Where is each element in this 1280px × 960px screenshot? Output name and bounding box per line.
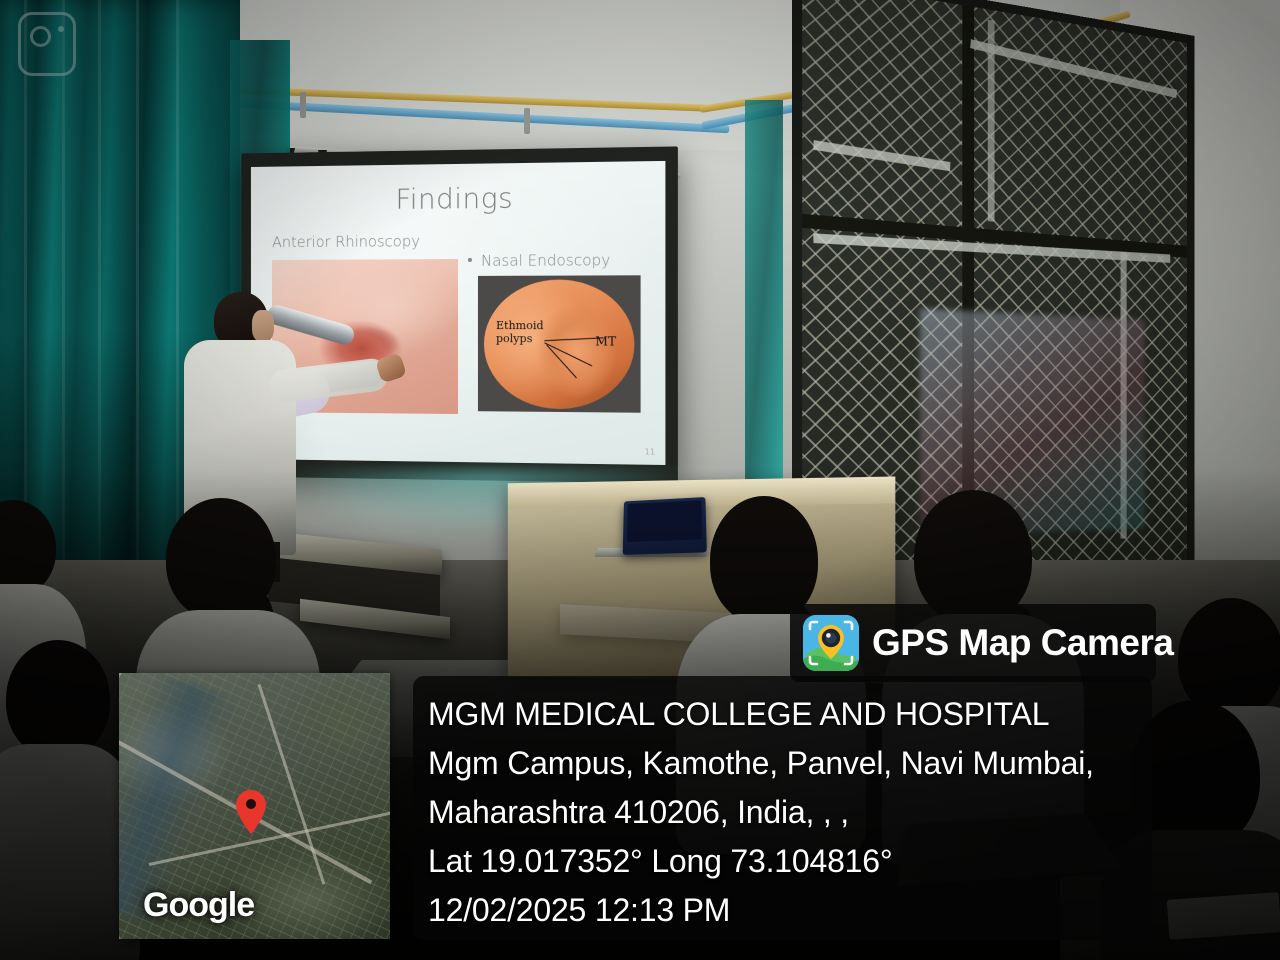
laptop-on-podium [623,497,707,555]
label-ethmoid: Ethmoid [496,319,544,332]
gps-map-camera-logo-icon [803,615,859,671]
pipe-clamp [524,108,530,134]
datetime-text: 12/02/2025 12:13 PM [428,886,1152,935]
slide-page-number: 11 [645,447,656,456]
endoscopy-annotation-polyps: Ethmoid polyps [496,320,544,346]
coordinates-text: Lat 19.017352° Long 73.104816° [428,837,1152,886]
projected-slide: Findings Anterior Rhinoscopy Nasal Endos… [251,161,666,465]
nasal-endoscopy-image: Ethmoid polyps MT [478,275,641,412]
laptop-screen [627,500,703,542]
slide-title: Findings [251,179,666,217]
location-info-panel: MGM MEDICAL COLLEGE AND HOSPITAL Mgm Cam… [413,676,1152,940]
google-watermark: Google [143,886,254,925]
watermark-flash-dot-icon [58,26,64,32]
projector-screen-frame: Findings Anterior Rhinoscopy Nasal Endos… [241,146,678,483]
slide-bullet-icon [468,258,472,262]
gps-map-camera-wordmark: GPS Map Camera [872,622,1173,664]
window-highlight-vertical [988,20,995,222]
slide-heading-left: Anterior Rhinoscopy [272,232,420,251]
papers-on-desk [1167,892,1280,940]
pipe-clamp [300,92,306,118]
student-head [6,640,110,758]
label-polyps: polyps [496,332,532,345]
map-pin-icon [236,790,266,834]
gps-map-camera-branding: GPS Map Camera [790,604,1156,682]
place-name-text: MGM MEDICAL COLLEGE AND HOSPITAL [428,690,1152,739]
address-line-2-text: Maharashtra 410206, India, , , [428,788,1152,837]
gps-map-camera-photo: Findings Anterior Rhinoscopy Nasal Endos… [0,0,1280,960]
map-thumbnail[interactable]: Google [119,673,390,939]
watermark-lens-icon [30,26,51,47]
endoscopy-annotation-mt: MT [595,334,616,348]
camera-outline-watermark-icon [18,12,76,76]
presenter-face [252,310,274,342]
teal-curtain-right [745,100,783,480]
address-line-1-text: Mgm Campus, Kamothe, Panvel, Navi Mumbai… [428,739,1152,788]
slide-heading-right: Nasal Endoscopy [481,251,610,270]
